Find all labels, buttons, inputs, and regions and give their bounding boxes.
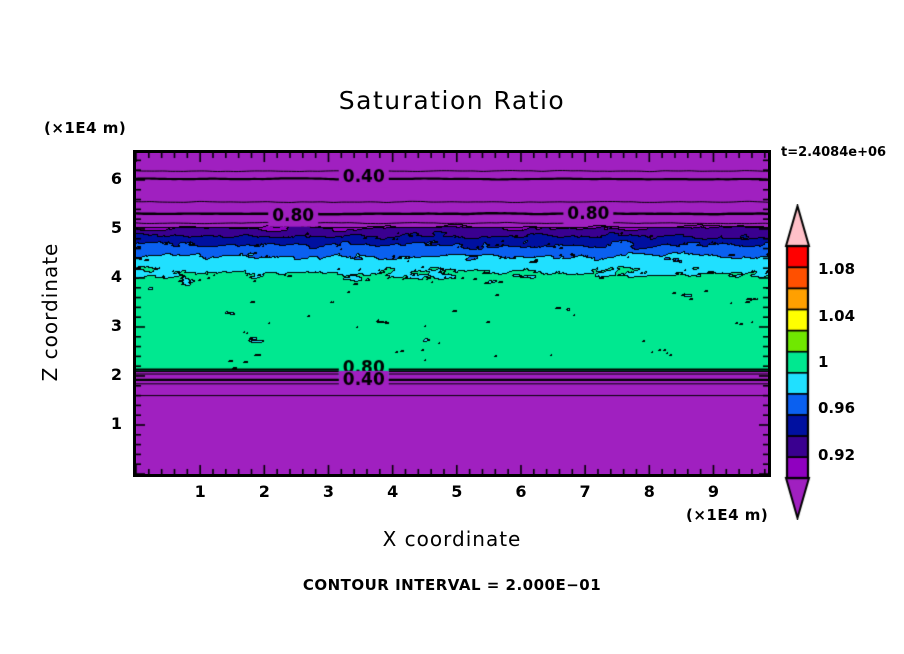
x-tick-label: 7	[580, 482, 591, 501]
colorbar-tick-label: 1.04	[818, 307, 855, 325]
x-axis-title: X coordinate	[136, 527, 768, 551]
x-tick-label: 5	[451, 482, 462, 501]
x-axis-units-label: (×1E4 m)	[686, 506, 768, 524]
x-tick-label: 2	[259, 482, 270, 501]
colorbar-tick-label: 0.92	[818, 446, 855, 464]
x-tick-label: 9	[708, 482, 719, 501]
x-tick-label: 4	[387, 482, 398, 501]
contour-interval-caption: CONTOUR INTERVAL = 2.000E−01	[0, 576, 904, 594]
x-tick-label: 3	[323, 482, 334, 501]
contour-field-canvas	[136, 153, 768, 474]
colorbar-tick-label: 1.08	[818, 260, 855, 278]
x-tick-label: 1	[195, 482, 206, 501]
x-tick-label: 8	[644, 482, 655, 501]
y-axis-units-label: (×1E4 m)	[44, 119, 126, 137]
x-tick-label: 6	[515, 482, 526, 501]
colorbar-tick-label: 1	[818, 353, 828, 371]
time-annotation: t=2.4084e+06	[781, 145, 886, 160]
colorbar-tick-label: 0.96	[818, 399, 855, 417]
y-axis-title: Z coordinate	[38, 232, 62, 392]
contour-plot-area	[136, 153, 768, 474]
page-title: Saturation Ratio	[0, 86, 904, 115]
